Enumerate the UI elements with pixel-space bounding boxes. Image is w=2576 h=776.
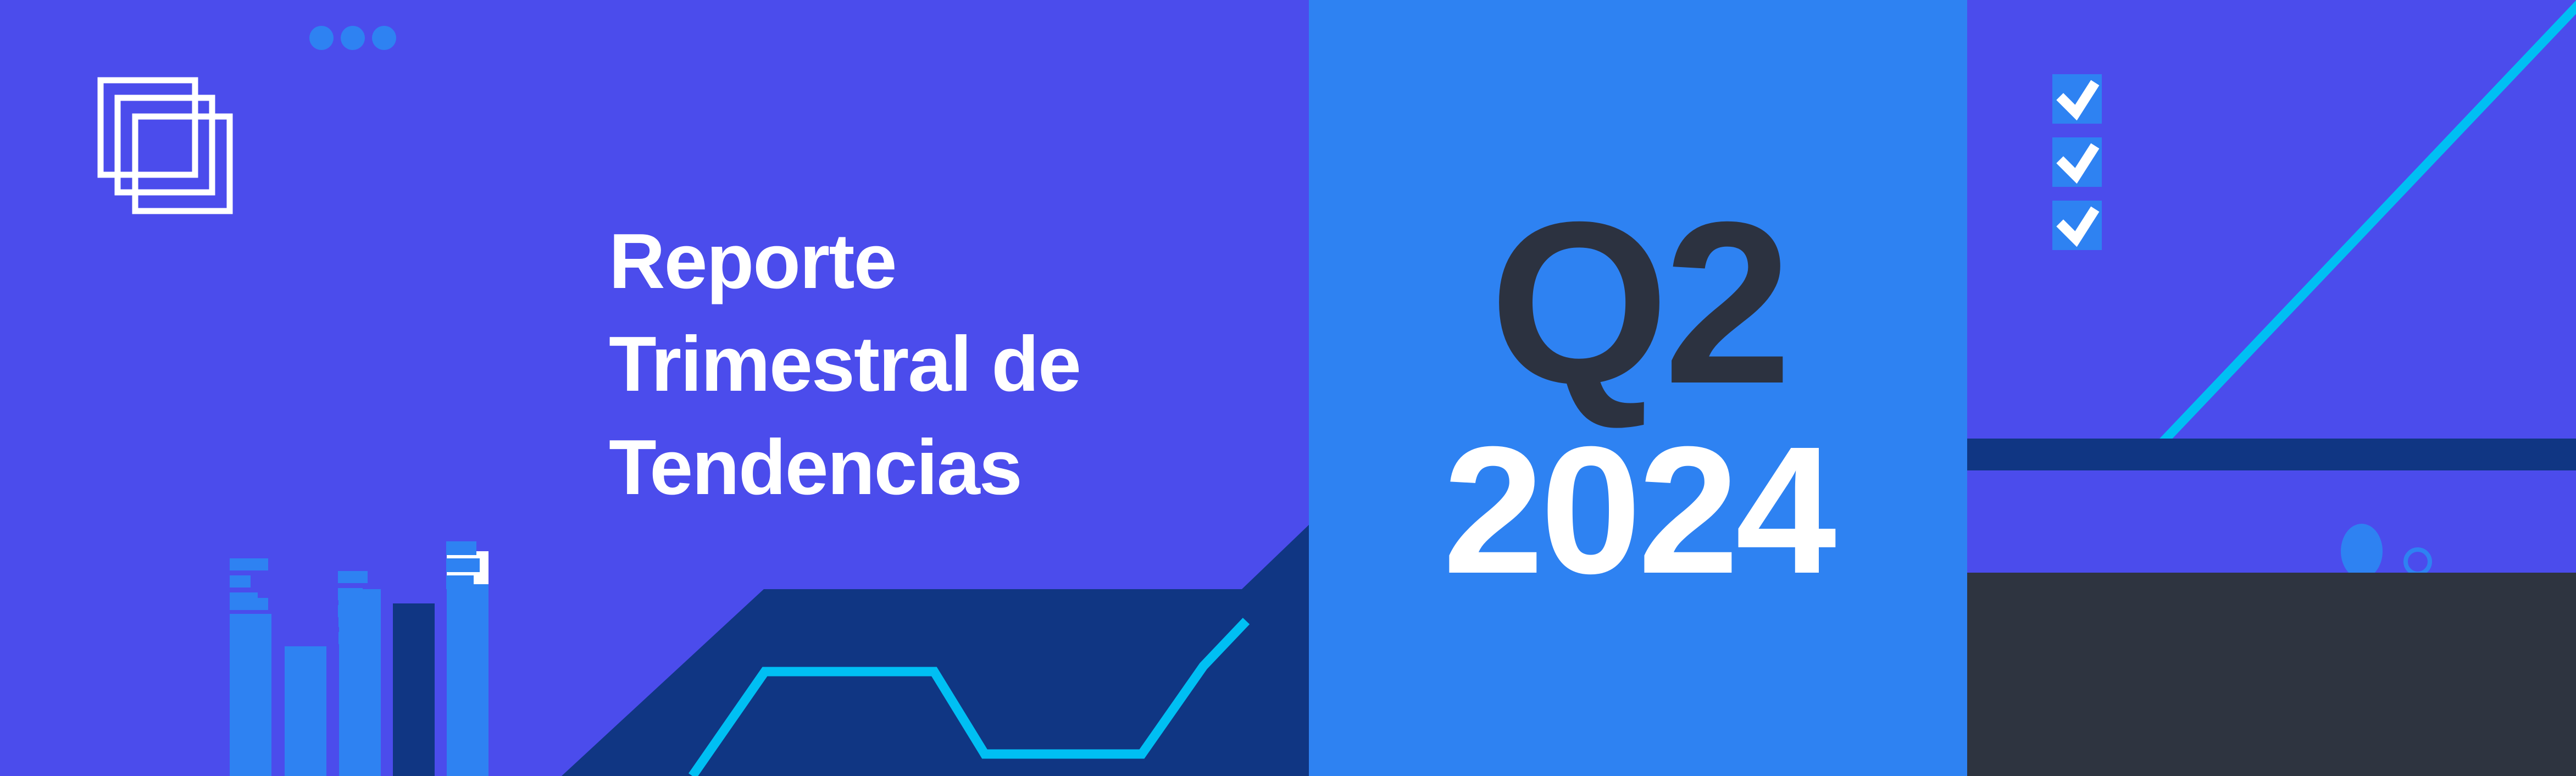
checkbox-3[interactable]: [2052, 201, 2102, 250]
filled-ellipse: [2341, 524, 2383, 579]
charcoal-block: [1967, 573, 2576, 776]
checkbox-1[interactable]: [2052, 74, 2102, 124]
right-navy-band: [1967, 439, 2576, 470]
bar-3: [339, 589, 381, 776]
quarter-label: Q2: [1490, 202, 1786, 405]
dot-1-icon: [309, 26, 334, 50]
bar-4: [393, 603, 435, 776]
report-title: Reporte Trimestral de Tendencias: [609, 210, 1241, 519]
background-graphics: [0, 0, 2576, 776]
quarterly-report-banner: Reporte Trimestral de Tendencias Q2 2024: [0, 0, 2576, 776]
dots-group: [309, 26, 396, 50]
title-line-2: Trimestral de: [609, 313, 1241, 415]
dot-2-icon: [341, 26, 365, 50]
quarter-year-block: Q2 2024: [1309, 0, 1967, 776]
bar-2: [285, 646, 326, 776]
bar-5: [447, 551, 488, 776]
checkbox-2[interactable]: [2052, 137, 2102, 187]
dot-3-icon: [372, 26, 396, 50]
title-line-1: Reporte: [609, 210, 1241, 313]
bar-1: [230, 614, 271, 776]
title-line-3: Tendencias: [609, 416, 1241, 519]
year-label: 2024: [1443, 424, 1833, 596]
